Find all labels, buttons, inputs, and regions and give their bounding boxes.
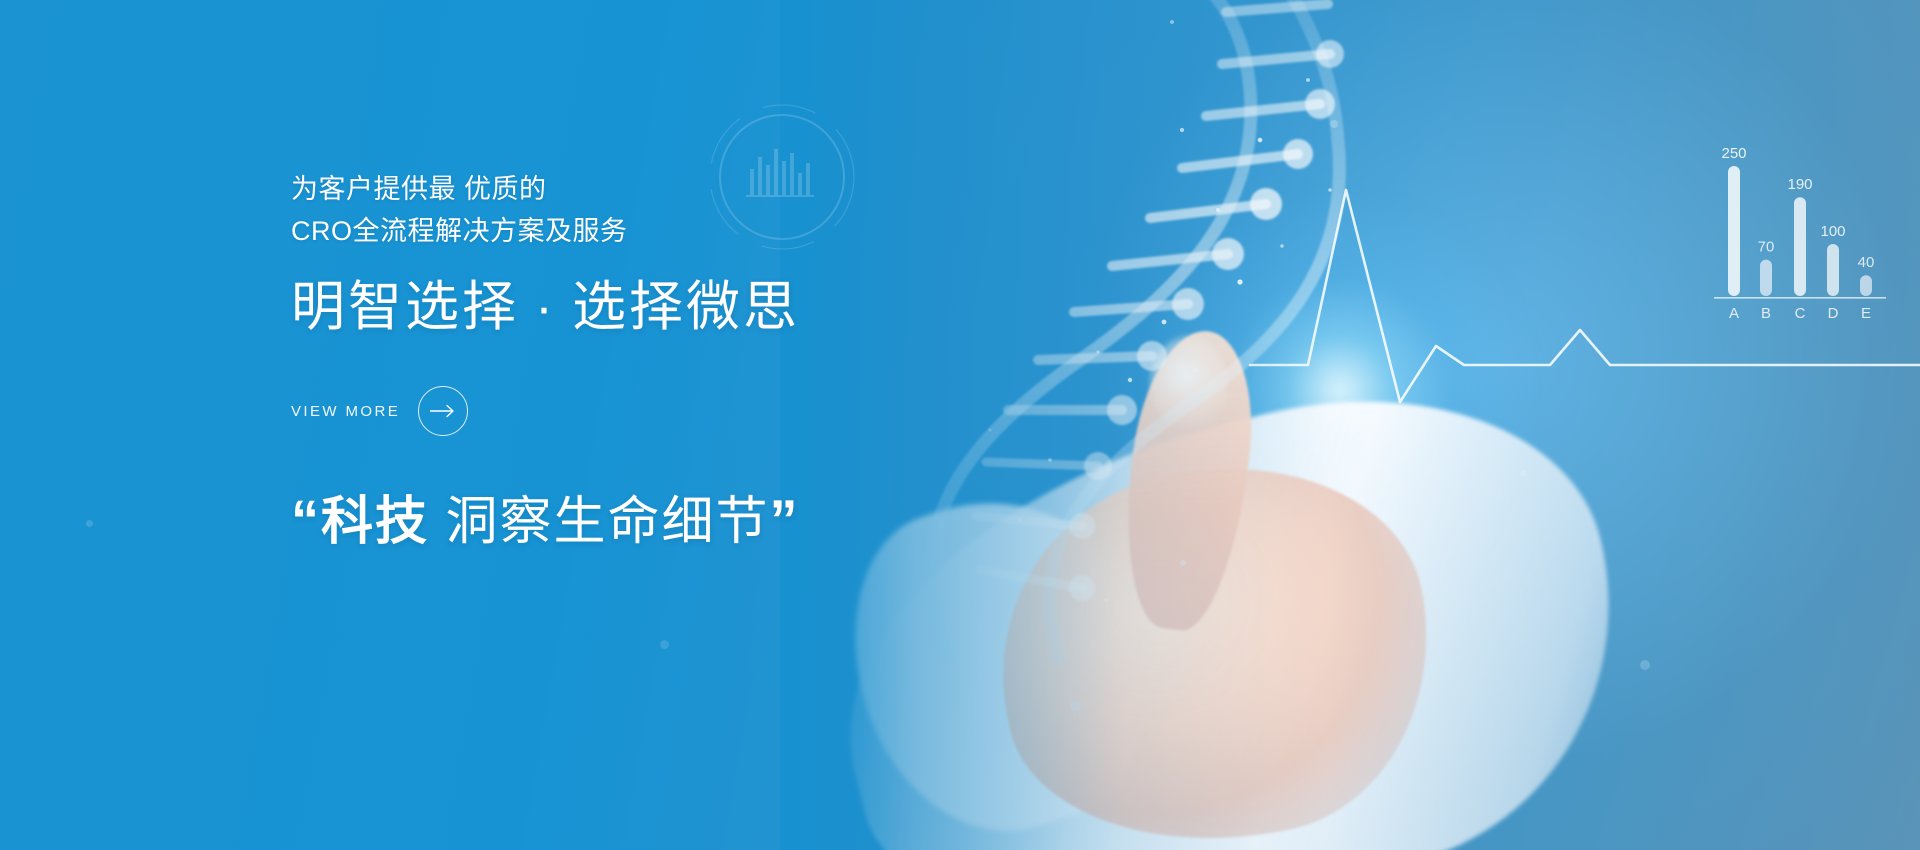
bar-d [1827, 244, 1839, 296]
bokeh-dot [880, 560, 886, 566]
bokeh-dot [660, 640, 669, 649]
bar-label-b: B [1761, 305, 1771, 322]
bar-a [1728, 166, 1740, 296]
bar-b [1760, 260, 1772, 296]
bokeh-dot [86, 520, 93, 527]
hero-quote: “科技 洞察生命细节” [291, 488, 1071, 554]
index-finger-shape [1112, 324, 1264, 636]
headline-right: 选择微思 [572, 277, 800, 337]
bar-e [1860, 275, 1872, 296]
hero-banner: 250 70 190 100 40 A B C D E [0, 0, 1920, 850]
fingertip-highlight [1150, 336, 1228, 432]
bar-value-a: 250 [1721, 145, 1746, 162]
hud-bar-chart: 250 70 190 100 40 A B C D E [1700, 140, 1900, 340]
bokeh-dot [1330, 120, 1338, 128]
quote-open-mark: “ [291, 488, 321, 551]
view-more-label: VIEW MORE [291, 403, 400, 420]
bar-value-e: 40 [1858, 254, 1875, 271]
quote-light: 洞察生命细节 [429, 493, 769, 551]
hero-subtitle-line1: 为客户提供最 优质的 [291, 0, 1071, 210]
bar-value-d: 100 [1820, 223, 1845, 240]
quote-close-mark: ” [769, 488, 799, 551]
bar-label-c: C [1795, 305, 1806, 322]
bokeh-dot [1520, 470, 1527, 477]
view-more-button[interactable]: VIEW MORE [291, 386, 468, 436]
bar-label-d: D [1828, 305, 1839, 322]
bar-c [1794, 197, 1806, 296]
bar-label-a: A [1729, 305, 1739, 322]
hero-headline: 明智选择·选择微思 [291, 276, 1071, 338]
headline-left: 明智选择 [291, 277, 519, 337]
bar-value-c: 190 [1787, 176, 1812, 193]
headline-separator: · [519, 277, 572, 337]
chart-baseline [1714, 297, 1886, 299]
bar-label-e: E [1861, 305, 1871, 322]
bokeh-dot [1180, 560, 1186, 566]
hero-copy: 为客户提供最 优质的 CRO全流程解决方案及服务 明智选择·选择微思 VIEW … [291, 0, 1071, 554]
quote-strong: 科技 [321, 493, 429, 551]
hero-subtitle-line2: CRO全流程解决方案及服务 [291, 210, 1071, 252]
bokeh-dot [1640, 660, 1650, 670]
bar-value-b: 70 [1758, 239, 1775, 256]
bokeh-dot [1070, 700, 1081, 711]
arrow-right-icon[interactable] [418, 386, 468, 436]
fingertip-glow [1130, 180, 1550, 600]
